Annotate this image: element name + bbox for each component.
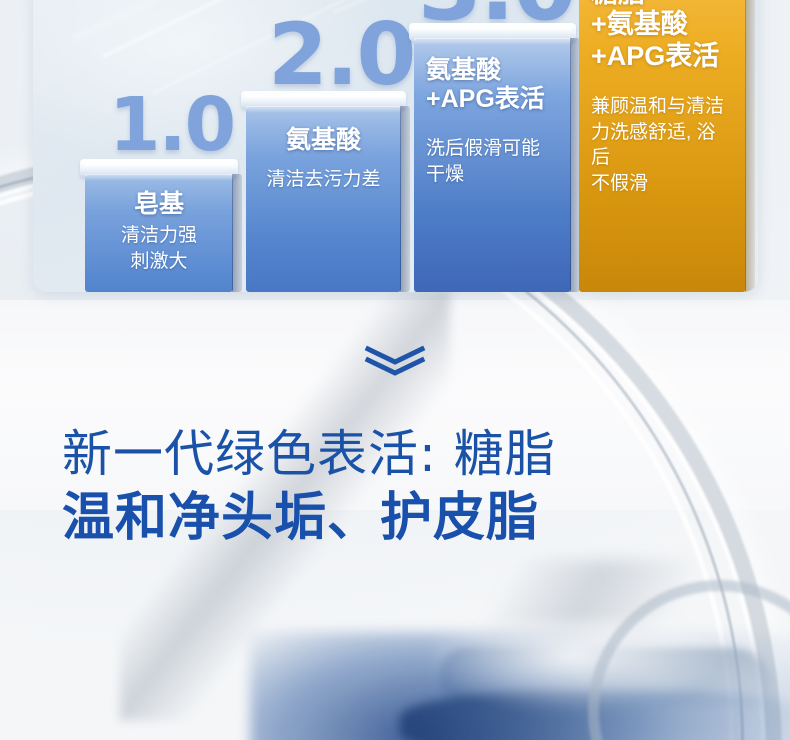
headline-block: 新一代绿色表活: 糖脂 温和净头垢、护皮脂 bbox=[62, 425, 752, 549]
bar-title-2: 氨基酸 bbox=[258, 126, 389, 155]
bar-generation-3[interactable]: 氨基酸 +APG表活 洗后假滑可能 干燥 bbox=[414, 38, 571, 292]
generations-chart-card: 1.0 2.0 3.0 皂基 清洁力强 刺激大 氨基酸 清洁去污力差 氨基酸 +… bbox=[33, 0, 758, 292]
bar-desc-2: 清洁去污力差 bbox=[258, 167, 389, 193]
bar-generation-1[interactable]: 皂基 清洁力强 刺激大 bbox=[85, 174, 233, 292]
double-chevron-down-icon bbox=[364, 345, 426, 379]
bar-desc-3: 洗后假滑可能 干燥 bbox=[426, 136, 559, 187]
bar-title-3: 氨基酸 +APG表活 bbox=[426, 56, 559, 114]
headline-line-1: 新一代绿色表活: 糖脂 bbox=[62, 425, 752, 484]
generation-number-2: 2.0 bbox=[268, 12, 414, 98]
headline-line-2: 温和净头垢、护皮脂 bbox=[62, 488, 752, 549]
bar-generation-2[interactable]: 氨基酸 清洁去污力差 bbox=[246, 106, 401, 292]
bar-desc-1: 清洁力强 刺激大 bbox=[97, 223, 221, 274]
bar-title-4: 糖脂 +氨基酸 +APG表活 bbox=[591, 0, 734, 72]
bar-title-1: 皂基 bbox=[97, 190, 221, 219]
bar-generation-4[interactable]: 糖脂 +氨基酸 +APG表活 兼顾温和与清洁 力洗感舒适, 浴后 不假滑 bbox=[579, 0, 746, 292]
bar-desc-4: 兼顾温和与清洁 力洗感舒适, 浴后 不假滑 bbox=[591, 94, 734, 197]
bar-side bbox=[745, 0, 755, 292]
generation-number-1: 1.0 bbox=[109, 88, 234, 162]
section-divider bbox=[0, 338, 790, 386]
bar-side bbox=[232, 174, 242, 292]
bar-side bbox=[400, 106, 410, 292]
